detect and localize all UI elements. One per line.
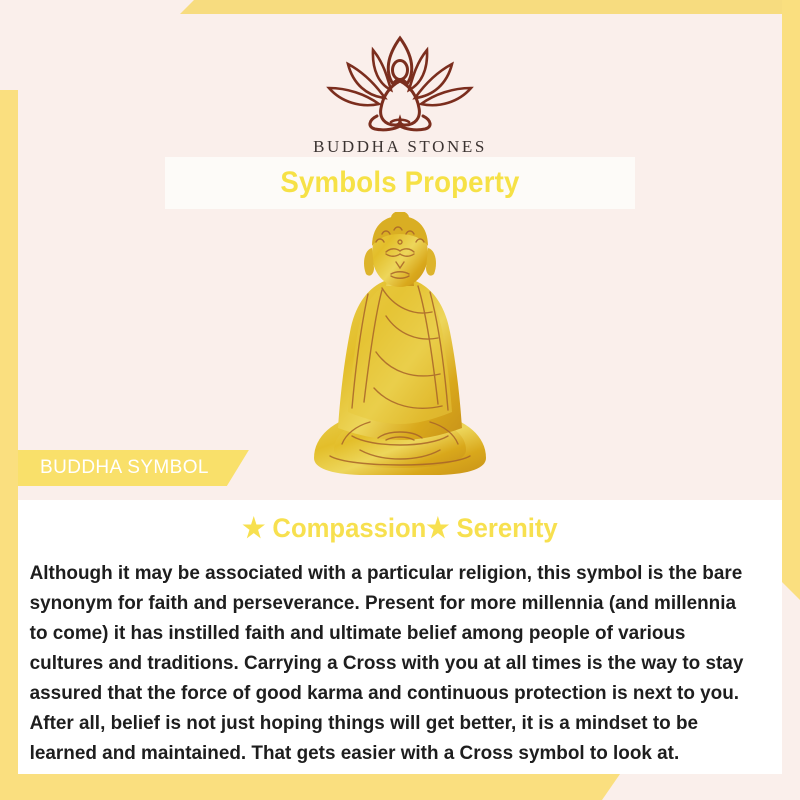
title-banner: Symbols Property <box>165 157 635 209</box>
decorative-top-bar <box>180 0 800 14</box>
hero-image-block <box>18 212 782 487</box>
brand-name: BUDDHA STONES <box>18 137 782 157</box>
brand-block: BUDDHA STONES <box>18 30 782 157</box>
lotus-meditation-icon <box>315 30 485 135</box>
content-paragraph: Although it may be associated with a par… <box>18 558 759 768</box>
seated-buddha-statue <box>290 212 510 482</box>
page-title: Symbols Property <box>280 166 519 200</box>
section-ribbon: BUDDHA SYMBOL <box>18 450 249 486</box>
content-panel: ★ Compassion★ Serenity Although it may b… <box>18 500 782 774</box>
header-panel: BUDDHA STONES Symbols Property <box>18 14 782 500</box>
decorative-bottom-bar <box>0 774 620 800</box>
decorative-left-bar <box>0 90 18 800</box>
ribbon-label: BUDDHA SYMBOL <box>40 457 209 479</box>
decorative-right-bar <box>782 0 800 600</box>
poster-root: BUDDHA STONES Symbols Property <box>0 0 800 800</box>
content-subtitle: ★ Compassion★ Serenity <box>37 513 763 544</box>
